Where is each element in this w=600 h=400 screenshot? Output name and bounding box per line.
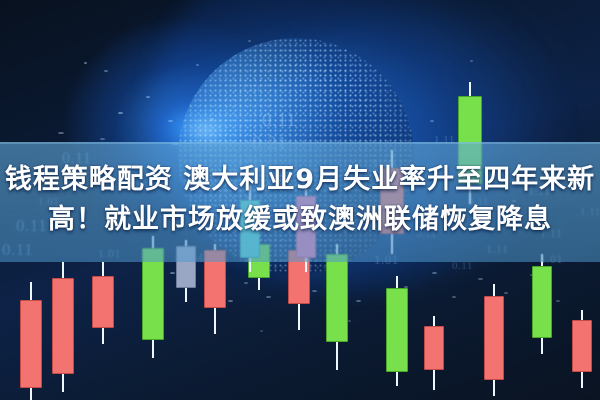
candlestick-body <box>326 254 348 342</box>
particle-speck <box>348 320 351 322</box>
candlestick-body <box>386 288 408 372</box>
candlestick-body <box>532 266 552 338</box>
particle-speck <box>118 112 123 114</box>
particle-speck <box>556 300 560 302</box>
band-top-edge <box>0 142 600 144</box>
particle-speck <box>452 296 456 298</box>
headline: 钱程策略配资 澳大利亚9月失业率升至四年来新 高！就业市场放缓或致澳洲联储恢复降… <box>0 160 600 240</box>
particle-speck <box>228 300 233 302</box>
particle-speck <box>84 62 87 64</box>
particle-speck <box>356 300 361 302</box>
headline-line-1: 钱程策略配资 澳大利亚9月失业率升至四年来新 <box>0 160 600 200</box>
candlestick-body <box>572 320 592 372</box>
candlestick-body <box>52 278 74 374</box>
news-banner: 0.110.211.113.110.111.010.110.111.010.11… <box>0 0 600 400</box>
candlestick-body <box>92 276 114 328</box>
headline-line-2: 高！就业市场放缓或致澳洲联储恢复降息 <box>0 200 600 240</box>
candlestick-body <box>424 326 444 370</box>
candlestick-body <box>20 300 42 388</box>
particle-speck <box>170 272 175 274</box>
particle-speck <box>504 292 508 294</box>
candlestick-body <box>484 296 504 380</box>
